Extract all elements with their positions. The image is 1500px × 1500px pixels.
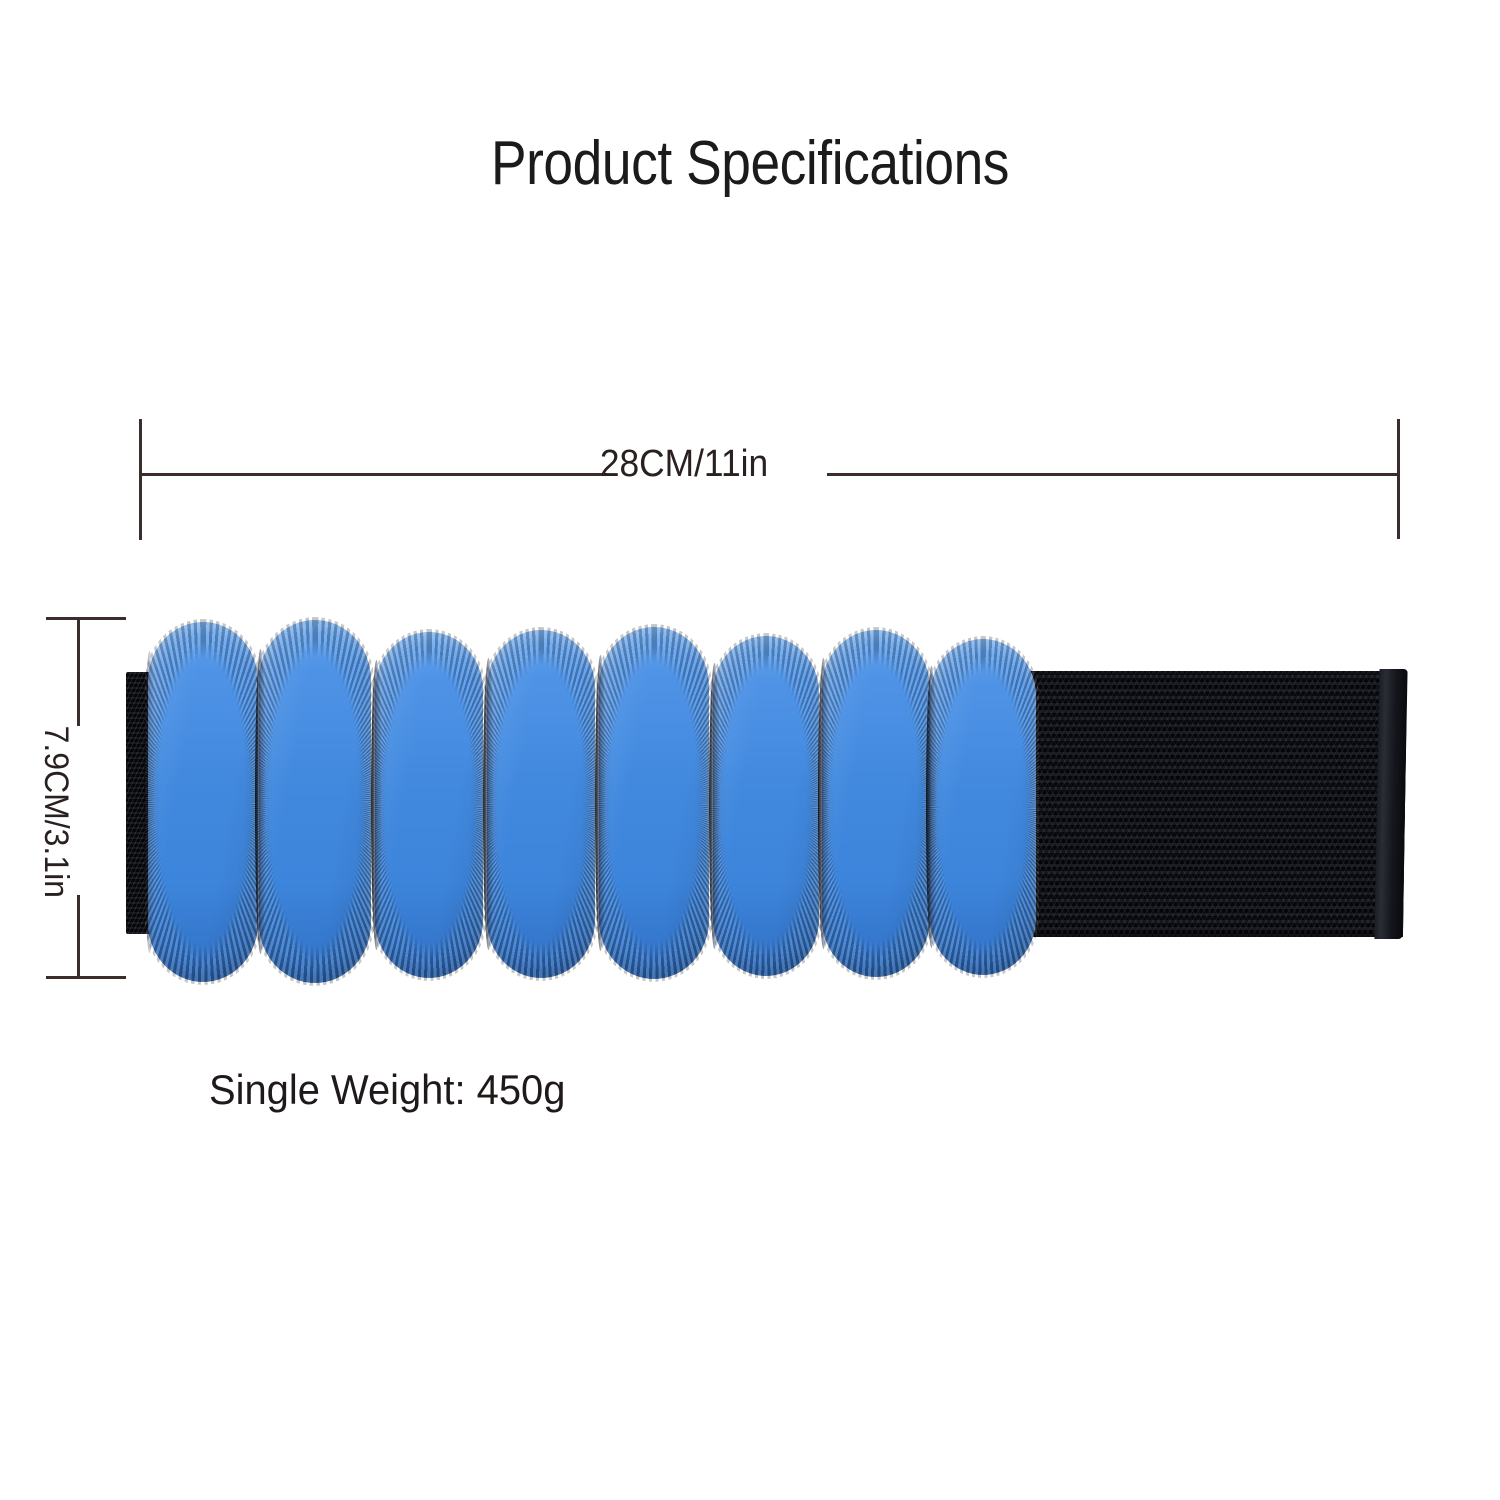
height-dimension-line-top [77, 619, 80, 726]
weight-segment [148, 622, 258, 982]
weight-segment [487, 630, 595, 978]
product-illustration [0, 0, 1500, 1500]
weight-segment [713, 636, 819, 976]
weight-segment [599, 627, 709, 979]
weight-segment [259, 620, 371, 983]
height-dimension-line-bottom [77, 895, 80, 977]
height-dimension-tick-top [46, 617, 126, 620]
velcro-strap-tail [1013, 671, 1407, 937]
height-dimension-tick-bottom [46, 976, 126, 979]
single-weight-caption: Single Weight: 450g [209, 1066, 565, 1114]
width-dimension-label: 28CM/11in [0, 443, 1382, 486]
weight-segment [822, 630, 930, 977]
product-specification-image: Product Specifications 28CM/11in 7.9CM/3… [0, 0, 1500, 1500]
weight-segment [375, 632, 483, 978]
page-title: Product Specifications [105, 128, 1395, 199]
strap-bound-edge [1374, 669, 1407, 939]
width-dimension-tick-right [1397, 419, 1400, 539]
height-dimension-label: 7.9CM/3.1in [35, 720, 77, 889]
strap-left-edge [126, 672, 150, 934]
weight-segment [930, 639, 1036, 975]
